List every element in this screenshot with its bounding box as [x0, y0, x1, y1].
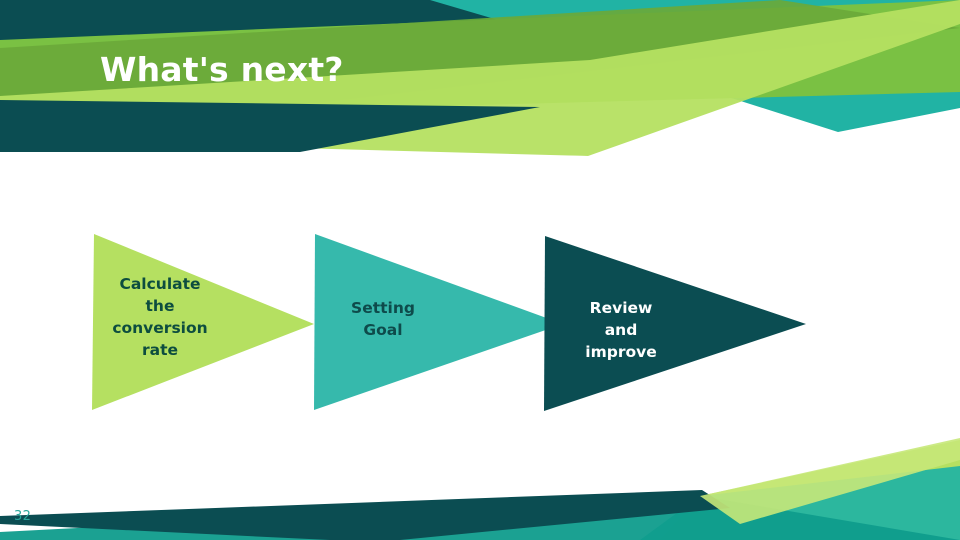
- chevron-step-review-improve-label: Review and improve: [562, 297, 680, 363]
- presentation-slide: What's next? Calculate the conversion ra…: [0, 0, 960, 540]
- chevron-step-setting-goal-label: Setting Goal: [330, 297, 436, 341]
- chevron-process-flow: [0, 0, 960, 540]
- chevron-step-calculate-label: Calculate the conversion rate: [104, 273, 216, 361]
- page-number: 32: [14, 509, 31, 524]
